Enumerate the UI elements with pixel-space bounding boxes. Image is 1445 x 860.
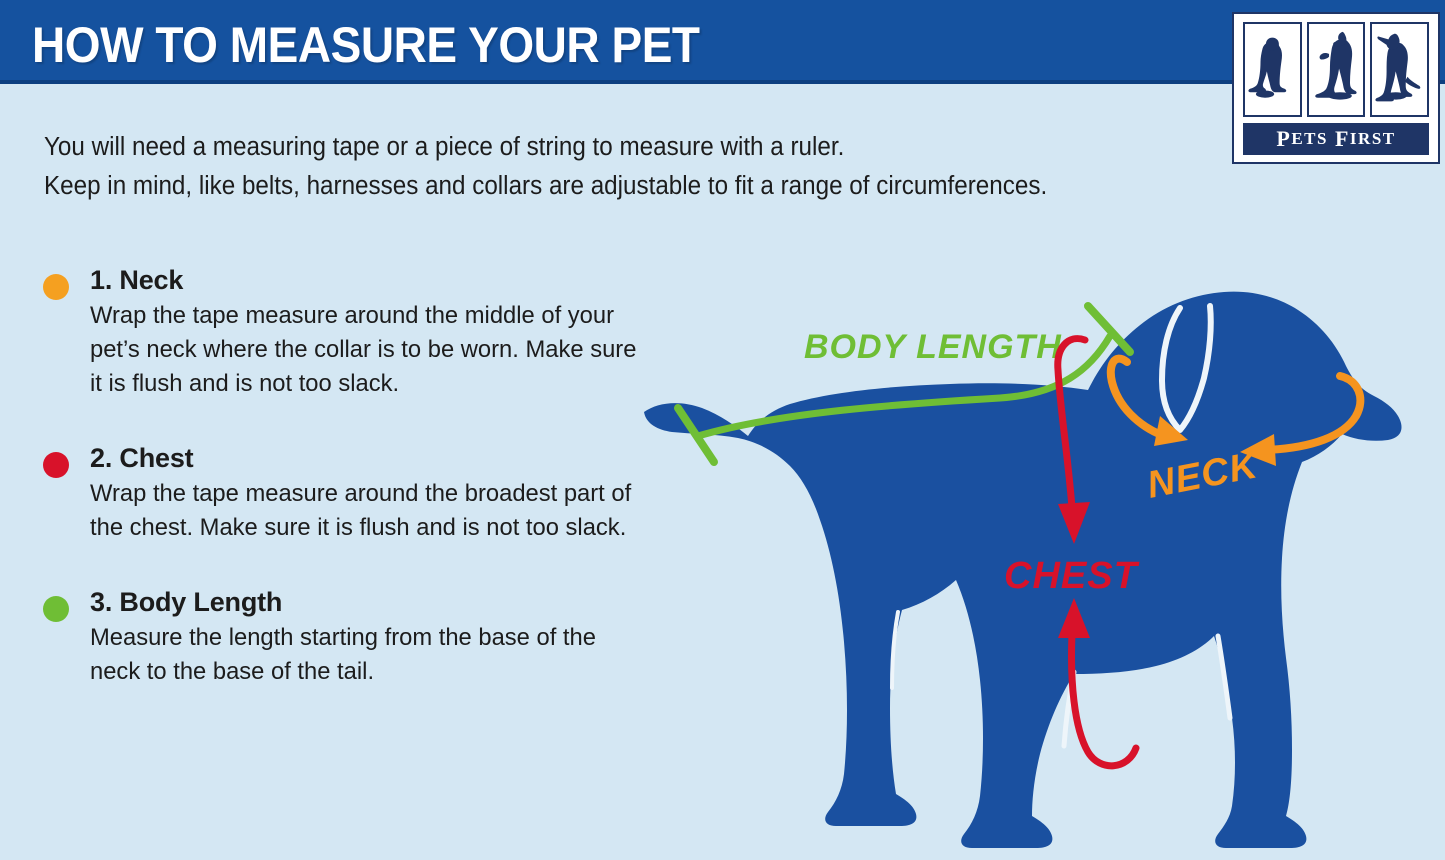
dog-measurement-diagram: BODY LENGTH NECK CHEST: [640, 240, 1445, 860]
dog-diagram-svg: BODY LENGTH NECK CHEST: [640, 240, 1445, 860]
logo-word-first: F: [1335, 126, 1350, 152]
step-chest: 2. Chest Wrap the tape measure around th…: [40, 443, 660, 545]
header-bar: HOW TO MEASURE YOUR PET: [0, 0, 1445, 84]
steps-list: 1. Neck Wrap the tape measure around the…: [40, 265, 660, 731]
logo-panel-row: [1243, 22, 1429, 117]
step-neck: 1. Neck Wrap the tape measure around the…: [40, 265, 660, 401]
logo-word-first-rest: IRST: [1350, 129, 1396, 149]
intro-line-1: You will need a measuring tape or a piec…: [44, 128, 1137, 167]
bullet-neck-icon: [43, 274, 69, 300]
body-length-label: BODY LENGTH: [804, 328, 1062, 366]
body-length-end-cap-right: [1088, 306, 1130, 352]
logo-panel-2: [1307, 22, 1366, 117]
page-title: HOW TO MEASURE YOUR PET: [32, 16, 700, 74]
chest-label: CHEST: [1004, 555, 1140, 597]
step-neck-title: 1. Neck: [90, 265, 660, 296]
logo-panel-1: [1243, 22, 1302, 117]
step-body-length-title: 3. Body Length: [90, 587, 660, 618]
logo-word-pets: P: [1276, 126, 1291, 152]
dog-begging-icon: [1309, 24, 1364, 115]
step-chest-title: 2. Chest: [90, 443, 660, 474]
logo-wordmark: PETS FIRST: [1243, 123, 1429, 155]
intro-line-2: Keep in mind, like belts, harnesses and …: [44, 167, 1137, 206]
logo-panel-3: [1370, 22, 1429, 117]
dog-howling-icon: [1372, 24, 1427, 115]
logo-word-pets-rest: ETS: [1291, 129, 1328, 149]
dog-sitting-icon: [1245, 24, 1300, 115]
step-body-length: 3. Body Length Measure the length starti…: [40, 587, 660, 689]
bullet-body-length-icon: [43, 596, 69, 622]
pets-first-logo: PETS FIRST: [1232, 12, 1440, 164]
step-body-length-body: Measure the length starting from the bas…: [90, 621, 643, 689]
step-chest-body: Wrap the tape measure around the broades…: [90, 477, 643, 545]
bullet-chest-icon: [43, 452, 69, 478]
intro-text: You will need a measuring tape or a piec…: [44, 128, 1137, 206]
step-neck-body: Wrap the tape measure around the middle …: [90, 299, 643, 401]
